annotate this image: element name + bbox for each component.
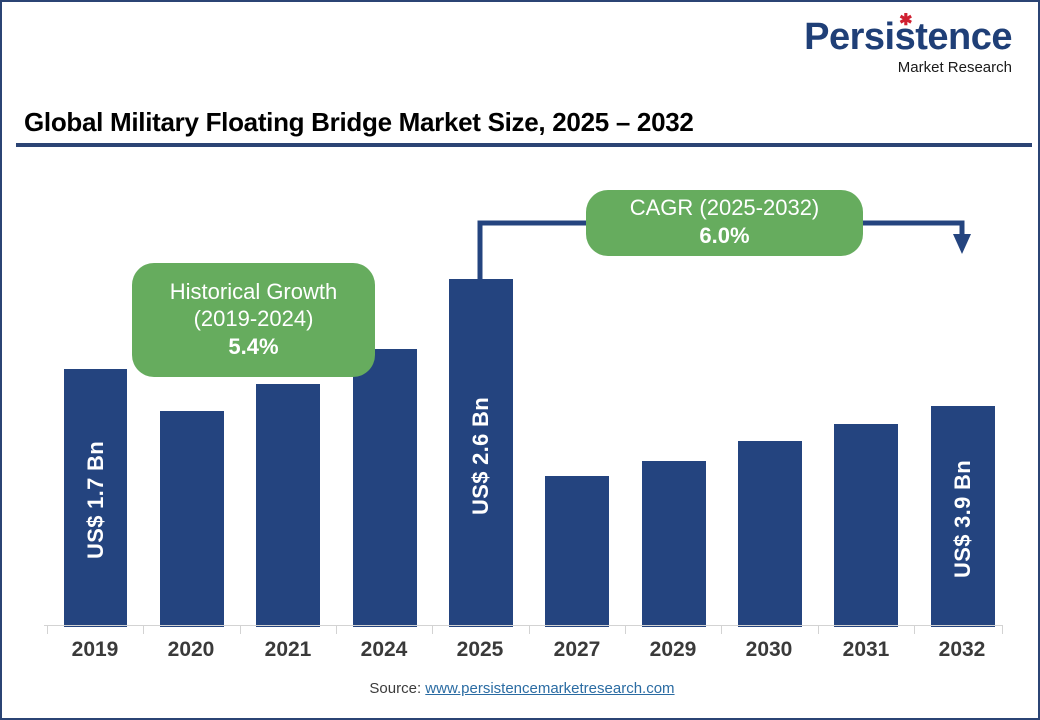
- bar-2029: [642, 461, 706, 627]
- page-title: Global Military Floating Bridge Market S…: [24, 107, 694, 138]
- bar-2019: US$ 1.7 Bn: [64, 369, 127, 627]
- axis-tick: [432, 625, 433, 634]
- axis-tick: [336, 625, 337, 634]
- axis-tick: [529, 625, 530, 634]
- historical-growth-value: 5.4%: [228, 333, 278, 362]
- x-label-2031: 2031: [818, 638, 914, 662]
- historical-growth-callout: Historical Growth (2019-2024) 5.4%: [132, 263, 375, 377]
- x-label-2019: 2019: [47, 638, 143, 662]
- brand-tagline: Market Research: [804, 60, 1012, 75]
- x-label-2032: 2032: [914, 638, 1010, 662]
- axis-tick: [1002, 625, 1003, 634]
- cagr-callout: CAGR (2025-2032) 6.0%: [586, 190, 863, 256]
- historical-growth-line1: Historical Growth: [170, 279, 337, 306]
- axis-tick: [625, 625, 626, 634]
- bar-2031: [834, 424, 898, 627]
- bar-2024: [353, 349, 417, 627]
- bar-chart-plot: US$ 1.7 Bn US$ 2.6 Bn US$ 3.9 Bn: [2, 157, 1040, 627]
- x-label-2020: 2020: [143, 638, 239, 662]
- x-label-2025: 2025: [432, 638, 528, 662]
- source-prefix: Source:: [369, 680, 425, 697]
- brand-logo: Persistence ✱ Market Research: [804, 18, 1012, 75]
- x-axis-labels: 2019 2020 2021 2024 2025 2027 2029 2030 …: [2, 638, 1040, 670]
- bar-value-label-2019: US$ 1.7 Bn: [83, 441, 109, 559]
- axis-tick: [818, 625, 819, 634]
- x-label-2021: 2021: [240, 638, 336, 662]
- bar-2020: [160, 411, 224, 627]
- x-label-2027: 2027: [529, 638, 625, 662]
- axis-tick: [143, 625, 144, 634]
- title-divider: [16, 143, 1032, 147]
- cagr-line1: CAGR (2025-2032): [630, 195, 820, 222]
- bar-2021: [256, 384, 320, 627]
- x-label-2029: 2029: [625, 638, 721, 662]
- axis-tick: [914, 625, 915, 634]
- axis-tick: [240, 625, 241, 634]
- brand-name: Persistence ✱: [804, 18, 1012, 56]
- bar-2025: US$ 2.6 Bn: [449, 279, 513, 627]
- asterisk-icon: ✱: [899, 15, 910, 26]
- historical-growth-line2: (2019-2024): [194, 306, 314, 333]
- bar-2030: [738, 441, 802, 627]
- x-label-2024: 2024: [336, 638, 432, 662]
- source-link[interactable]: www.persistencemarketresearch.com: [425, 680, 674, 697]
- chart-page: Persistence ✱ Market Research Global Mil…: [0, 0, 1040, 720]
- bar-value-label-2025: US$ 2.6 Bn: [468, 397, 494, 515]
- bar-2027: [545, 476, 609, 627]
- axis-tick: [721, 625, 722, 634]
- axis-tick: [47, 625, 48, 634]
- bar-value-label-2032: US$ 3.9 Bn: [950, 460, 976, 578]
- x-label-2030: 2030: [721, 638, 817, 662]
- bar-2032: US$ 3.9 Bn: [931, 406, 995, 627]
- cagr-value: 6.0%: [699, 222, 749, 251]
- source-note: Source: www.persistencemarketresearch.co…: [2, 680, 1040, 697]
- x-axis-line: [44, 625, 1002, 626]
